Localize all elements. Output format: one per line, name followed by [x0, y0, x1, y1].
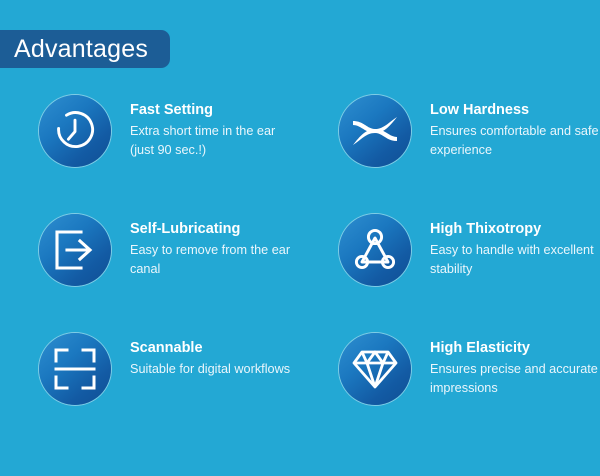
feature-title: Fast Setting: [130, 101, 300, 119]
feature-item-high-elasticity: High Elasticity Ensures precise and accu…: [300, 332, 600, 451]
feature-title: High Thixotropy: [430, 220, 600, 238]
feature-description: Ensures comfortable and safe experience: [430, 122, 600, 161]
exit-arrow-icon: [39, 214, 111, 286]
feature-description: Ensures precise and accurate impressions: [430, 360, 600, 399]
feature-item-high-thixotropy: High Thixotropy Easy to handle with exce…: [300, 213, 600, 332]
feature-title: Scannable: [130, 339, 290, 357]
page-title: Advantages: [14, 37, 148, 62]
feature-title: High Elasticity: [430, 339, 600, 357]
feature-item-low-hardness: Low Hardness Ensures comfortable and saf…: [300, 94, 600, 213]
page-title-banner: Advantages: [0, 30, 170, 68]
feature-text: Self-Lubricating Easy to remove from the…: [130, 213, 300, 280]
feature-text: Low Hardness Ensures comfortable and saf…: [430, 94, 600, 161]
scan-frame-icon: [39, 333, 111, 405]
feature-description: Easy to remove from the ear canal: [130, 241, 300, 280]
feature-description: Suitable for digital workflows: [130, 360, 290, 379]
feature-item-fast-setting: Fast Setting Extra short time in the ear…: [0, 94, 300, 213]
feature-item-self-lubricating: Self-Lubricating Easy to remove from the…: [0, 213, 300, 332]
clock-icon: [39, 95, 111, 167]
advantages-grid: Fast Setting Extra short time in the ear…: [0, 94, 600, 451]
feature-title: Self-Lubricating: [130, 220, 300, 238]
feature-description: Easy to handle with excellent stability: [430, 241, 600, 280]
feature-title: Low Hardness: [430, 101, 600, 119]
feature-text: High Thixotropy Easy to handle with exce…: [430, 213, 600, 280]
feature-text: Fast Setting Extra short time in the ear…: [130, 94, 300, 161]
feature-item-scannable: Scannable Suitable for digital workflows: [0, 332, 300, 451]
molecule-icon: [339, 214, 411, 286]
feature-text: Scannable Suitable for digital workflows: [130, 332, 290, 379]
waves-icon: [339, 95, 411, 167]
diamond-icon: [339, 333, 411, 405]
feature-text: High Elasticity Ensures precise and accu…: [430, 332, 600, 399]
feature-description: Extra short time in the ear (just 90 sec…: [130, 122, 300, 161]
